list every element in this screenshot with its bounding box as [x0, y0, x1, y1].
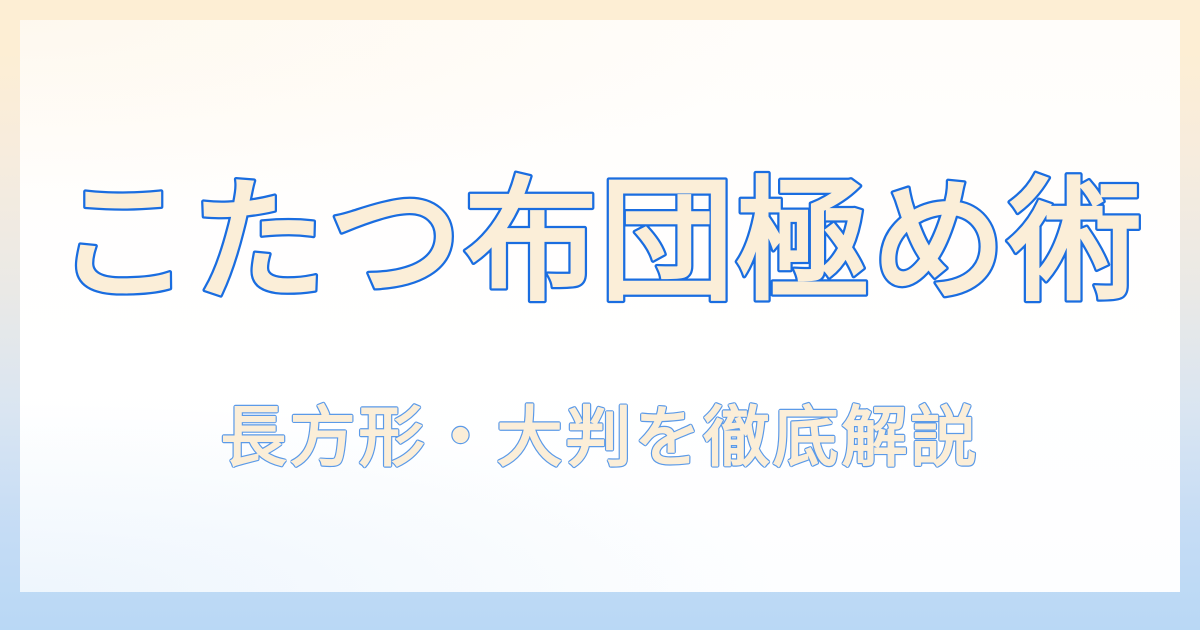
banner-title: こたつ布団極め術 — [0, 118, 1200, 368]
banner-subtitle-text: 長方形・大判を徹底解説 — [221, 399, 980, 476]
banner-subtitle: 長方形・大判を徹底解説 — [0, 370, 1200, 510]
banner-card: こたつ布団極め術 長方形・大判を徹底解説 — [0, 0, 1200, 630]
banner-title-text: こたつ布団極め術 — [56, 164, 1144, 320]
banner-text-stage: こたつ布団極め術 長方形・大判を徹底解説 — [0, 0, 1200, 630]
